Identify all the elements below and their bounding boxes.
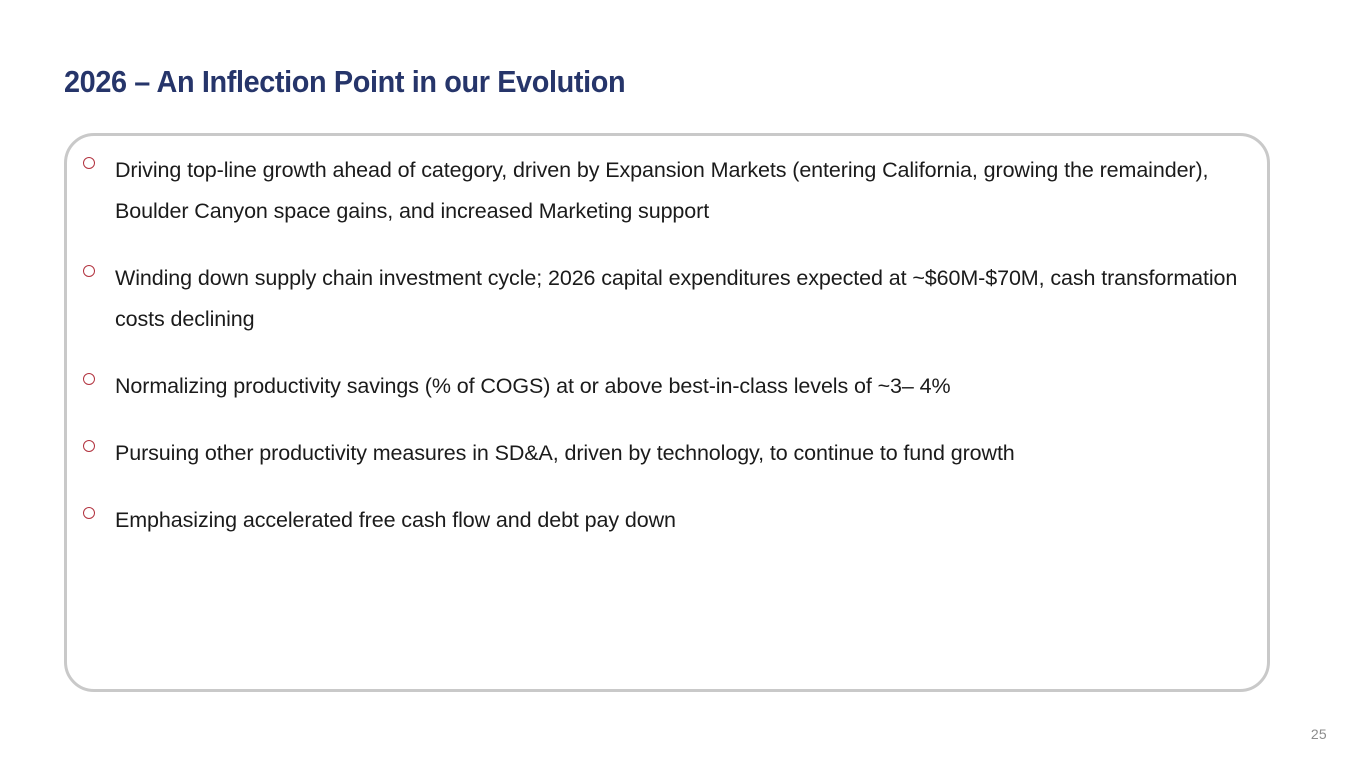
- hollow-circle-bullet-icon: [77, 258, 115, 277]
- content-panel: Driving top-line growth ahead of categor…: [64, 133, 1270, 692]
- list-item-text: Winding down supply chain investment cyc…: [115, 258, 1255, 340]
- list-item-text: Emphasizing accelerated free cash flow a…: [115, 500, 1255, 541]
- list-item: Pursuing other productivity measures in …: [77, 433, 1255, 474]
- list-item-text: Pursuing other productivity measures in …: [115, 433, 1255, 474]
- bullet-list: Driving top-line growth ahead of categor…: [77, 150, 1255, 541]
- hollow-circle-bullet-icon: [77, 433, 115, 452]
- list-item: Winding down supply chain investment cyc…: [77, 258, 1255, 340]
- list-item: Emphasizing accelerated free cash flow a…: [77, 500, 1255, 541]
- hollow-circle-bullet-icon: [77, 500, 115, 519]
- list-item-text: Driving top-line growth ahead of categor…: [115, 150, 1255, 232]
- presentation-slide: 2026 – An Inflection Point in our Evolut…: [0, 0, 1365, 768]
- page-number: 25: [1311, 726, 1327, 742]
- hollow-circle-bullet-icon: [77, 366, 115, 385]
- hollow-circle-bullet-icon: [77, 150, 115, 169]
- page-title: 2026 – An Inflection Point in our Evolut…: [64, 63, 625, 100]
- list-item-text: Normalizing productivity savings (% of C…: [115, 366, 1255, 407]
- list-item: Driving top-line growth ahead of categor…: [77, 150, 1255, 232]
- list-item: Normalizing productivity savings (% of C…: [77, 366, 1255, 407]
